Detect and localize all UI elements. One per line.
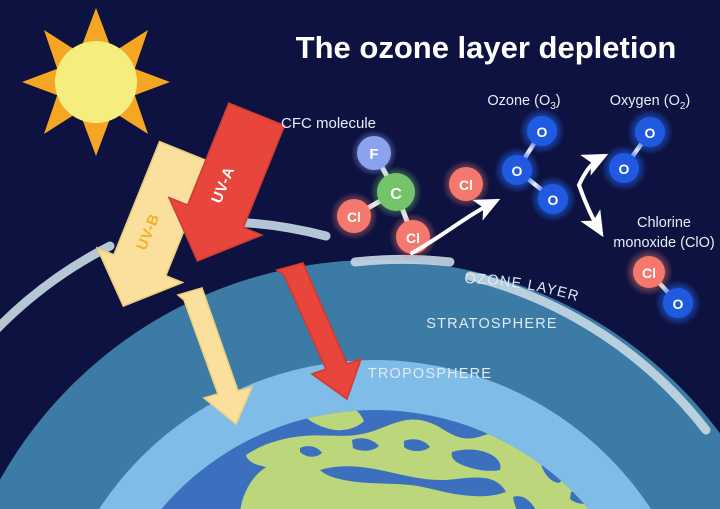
atom-chlorine-1: Cl xyxy=(330,192,378,240)
atom-oxygen-2: O xyxy=(601,145,647,191)
atom-label-cl: Cl xyxy=(459,177,473,193)
diagram-canvas: UV-B UV-A The ozone layer depletion F C … xyxy=(0,0,720,509)
atom-label-cl: Cl xyxy=(642,265,656,281)
sun-disc xyxy=(55,41,137,123)
cfc-molecule-label: CFC molecule xyxy=(281,115,376,132)
ozone-depletion-diagram: UV-B UV-A The ozone layer depletion F C … xyxy=(0,0,720,509)
chlorine-monoxide-caption-line1: Chlorine xyxy=(637,215,691,231)
atom-oxygen-1: O xyxy=(519,108,565,154)
atom-label-o: O xyxy=(645,125,656,141)
atom-oxygen-3: O xyxy=(530,176,576,222)
atom-oxygen: O xyxy=(655,280,701,326)
atom-label-o: O xyxy=(512,163,523,179)
atom-label-c: C xyxy=(390,186,402,203)
atom-oxygen-2: O xyxy=(494,147,540,193)
atom-label-o: O xyxy=(619,161,630,177)
stratosphere-caption: STRATOSPHERE xyxy=(426,316,558,332)
page-title: The ozone layer depletion xyxy=(296,30,677,65)
sun-icon xyxy=(22,8,170,156)
atom-carbon: C xyxy=(370,166,422,218)
chlorine-monoxide-caption-line2: monoxide (ClO) xyxy=(613,235,715,251)
atom-label-o: O xyxy=(548,192,559,208)
atom-label-o: O xyxy=(673,296,684,312)
atom-label-cl: Cl xyxy=(406,230,420,246)
troposphere-caption: TROPOSPHERE xyxy=(368,366,492,382)
atom-label-o: O xyxy=(537,124,548,140)
atom-label-f: F xyxy=(369,146,378,163)
atom-label-cl: Cl xyxy=(347,209,361,225)
free-chlorine-atom: Cl xyxy=(442,160,490,208)
